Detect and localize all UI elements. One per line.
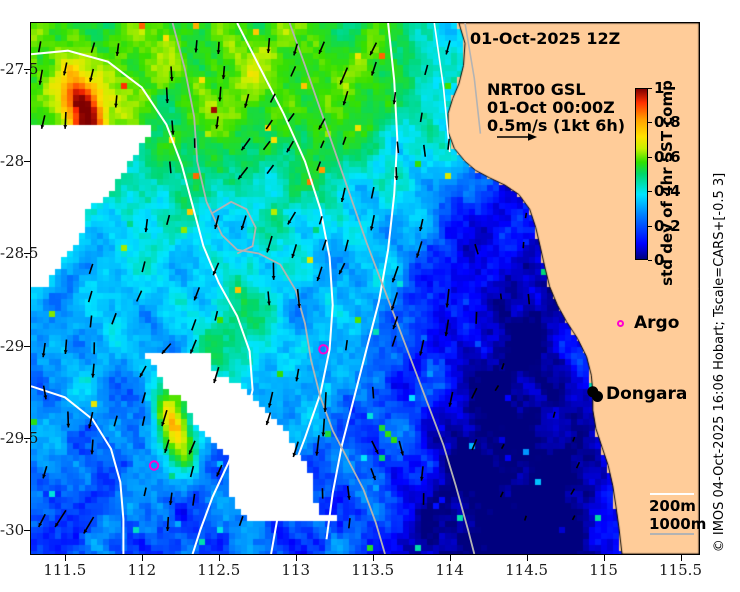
velocity-vector-head xyxy=(90,451,94,455)
velocity-vector xyxy=(267,165,273,174)
velocity-vector xyxy=(573,437,575,442)
x-tick-label: 113.5 xyxy=(351,561,394,579)
velocity-vector xyxy=(323,240,327,251)
velocity-vector xyxy=(142,261,145,272)
x-tick xyxy=(296,554,297,561)
velocity-vector-head xyxy=(64,350,68,354)
velocity-vector xyxy=(142,392,145,403)
velocity-vector-head xyxy=(114,104,118,108)
velocity-vector xyxy=(502,363,504,369)
y-tick-label: -27.5 xyxy=(0,60,24,78)
velocity-vector xyxy=(528,294,529,304)
velocity-vector xyxy=(271,94,276,103)
velocity-vector xyxy=(573,516,575,520)
depth-1000m-label: 1000m xyxy=(649,515,706,533)
x-tick xyxy=(527,554,528,561)
colorbar-tick-label: 0.4 xyxy=(654,182,681,200)
velocity-vector xyxy=(114,416,117,427)
velocity-vector xyxy=(112,313,116,324)
velocity-vector xyxy=(372,187,374,198)
y-tick-label: -30 xyxy=(0,521,24,539)
y-tick-label: -29.5 xyxy=(0,429,24,447)
velocity-vector xyxy=(191,466,194,477)
velocity-vector xyxy=(137,291,142,302)
colorbar-tick xyxy=(648,88,652,89)
x-tick xyxy=(219,554,220,561)
contour-1000m xyxy=(434,23,449,152)
velocity-vector xyxy=(89,264,92,274)
velocity-vector-head xyxy=(218,98,222,102)
velocity-vector xyxy=(291,66,296,76)
x-tick xyxy=(142,554,143,561)
velocity-vector xyxy=(421,113,423,122)
velocity-vector xyxy=(321,141,324,148)
colorbar-tick xyxy=(648,157,652,158)
velocity-vector xyxy=(240,516,243,526)
argo-float-marker-icon[interactable] xyxy=(150,461,158,469)
velocity-vector xyxy=(288,113,294,121)
x-tick xyxy=(604,554,605,561)
velocity-vector xyxy=(502,444,505,449)
velocity-vector xyxy=(349,518,350,528)
x-tick-label: 114.5 xyxy=(505,561,548,579)
velocity-vector xyxy=(193,494,195,506)
velocity-vector xyxy=(475,244,478,254)
x-tick-label: 115.5 xyxy=(659,561,702,579)
x-tick-label: 112.5 xyxy=(197,561,240,579)
velocity-vector-head xyxy=(393,325,397,329)
velocity-vector xyxy=(170,162,171,174)
colorbar-tick xyxy=(648,260,652,261)
velocity-vector xyxy=(89,291,92,302)
velocity-vector-head xyxy=(166,527,170,531)
velocity-vector xyxy=(192,319,196,330)
x-tick xyxy=(681,554,682,561)
x-tick xyxy=(65,554,66,561)
contour-1000m xyxy=(327,23,398,539)
colorbar xyxy=(635,88,648,260)
dongara-label: Dongara xyxy=(606,384,687,404)
depth-200m-label: 200m xyxy=(649,497,696,515)
x-tick-label: 113 xyxy=(281,561,310,579)
velocity-vector-head xyxy=(272,276,276,280)
date-stamp: 01-Oct-2025 12Z xyxy=(470,29,620,48)
velocity-vector xyxy=(91,43,94,53)
velocity-vector xyxy=(571,489,575,495)
velocity-vector xyxy=(373,387,374,399)
velocity-vector xyxy=(553,412,555,418)
velocity-vector-head xyxy=(267,49,271,53)
velocity-vector xyxy=(143,416,145,426)
x-tick-label: 111.5 xyxy=(43,561,86,579)
depth-200m-contour-swatch xyxy=(650,533,694,535)
y-tick-label: -29 xyxy=(0,337,24,355)
velocity-vector-head xyxy=(194,49,198,53)
credit-text: © IMOS 04-Oct-2025 16:06 Hobart; Tscale=… xyxy=(712,173,727,553)
velocity-vector xyxy=(215,311,217,321)
velocity-vector-head xyxy=(66,424,70,428)
velocity-vector xyxy=(425,65,428,75)
velocity-vector xyxy=(317,162,321,171)
x-tick xyxy=(373,554,374,561)
velocity-vector xyxy=(39,41,41,52)
velocity-vector xyxy=(264,141,271,149)
velocity-vector xyxy=(501,294,502,300)
depth-1000m-contour-swatch xyxy=(650,493,694,495)
velocity-vector xyxy=(472,439,477,450)
velocity-vector-head xyxy=(165,99,169,103)
velocity-vector xyxy=(167,215,170,225)
velocity-vector xyxy=(345,240,348,251)
velocity-vector xyxy=(144,488,146,497)
y-tick xyxy=(24,530,31,531)
velocity-vector xyxy=(501,492,504,497)
x-tick-label: 114 xyxy=(435,561,464,579)
colorbar-tick xyxy=(648,191,652,192)
velocity-vector-head xyxy=(170,77,174,81)
y-tick xyxy=(24,161,31,162)
velocity-vector xyxy=(525,516,527,521)
argo-legend-label: Argo xyxy=(634,313,679,333)
velocity-vector xyxy=(392,336,396,347)
velocity-vector xyxy=(266,120,272,129)
velocity-vector-head xyxy=(63,125,67,129)
velocity-vector xyxy=(397,142,398,153)
velocity-vector xyxy=(495,385,498,390)
x-tick-label: 115 xyxy=(589,561,618,579)
velocity-vector xyxy=(343,137,346,145)
colorbar-tick-label: 0.6 xyxy=(654,148,681,166)
x-tick xyxy=(450,554,451,561)
velocity-vector xyxy=(472,388,477,398)
colorbar-tick-label: 0.8 xyxy=(654,113,681,131)
argo-legend-marker-icon xyxy=(617,320,624,327)
colorbar-tick xyxy=(648,226,652,227)
velocity-vector xyxy=(346,340,347,350)
velocity-vector xyxy=(523,242,524,248)
colorbar-tick-label: 1 xyxy=(654,79,664,97)
velocity-scale-arrow-icon xyxy=(497,130,537,144)
velocity-vector xyxy=(424,145,426,157)
velocity-vector xyxy=(90,316,91,328)
dongara-marker-icon xyxy=(592,391,603,402)
y-tick xyxy=(24,346,31,347)
colorbar-tick-label: 0.2 xyxy=(654,217,681,235)
sst-map-figure: 01-Oct-2025 12Z NRT00 GSL 01-Oct 00:00Z … xyxy=(0,0,740,592)
velocity-vector xyxy=(526,213,527,218)
colorbar-tick xyxy=(648,122,652,123)
velocity-vector-head xyxy=(222,75,226,79)
velocity-vector-head xyxy=(392,278,396,282)
y-tick-label: -28 xyxy=(0,152,24,170)
colorbar-tick-label: 0 xyxy=(654,251,664,269)
velocity-vector-head xyxy=(217,50,221,54)
y-tick-label: -28.5 xyxy=(0,244,24,262)
argo-float-marker-icon[interactable] xyxy=(319,345,327,353)
source-line-1: NRT00 GSL xyxy=(487,80,586,99)
velocity-vector xyxy=(476,312,477,324)
velocity-vector-head xyxy=(91,374,95,378)
velocity-vector xyxy=(577,462,580,468)
source-line-2: 01-Oct 00:00Z xyxy=(487,98,615,117)
velocity-vector-head xyxy=(171,131,175,135)
x-tick-label: 112 xyxy=(127,561,156,579)
velocity-vector-head xyxy=(321,432,325,436)
